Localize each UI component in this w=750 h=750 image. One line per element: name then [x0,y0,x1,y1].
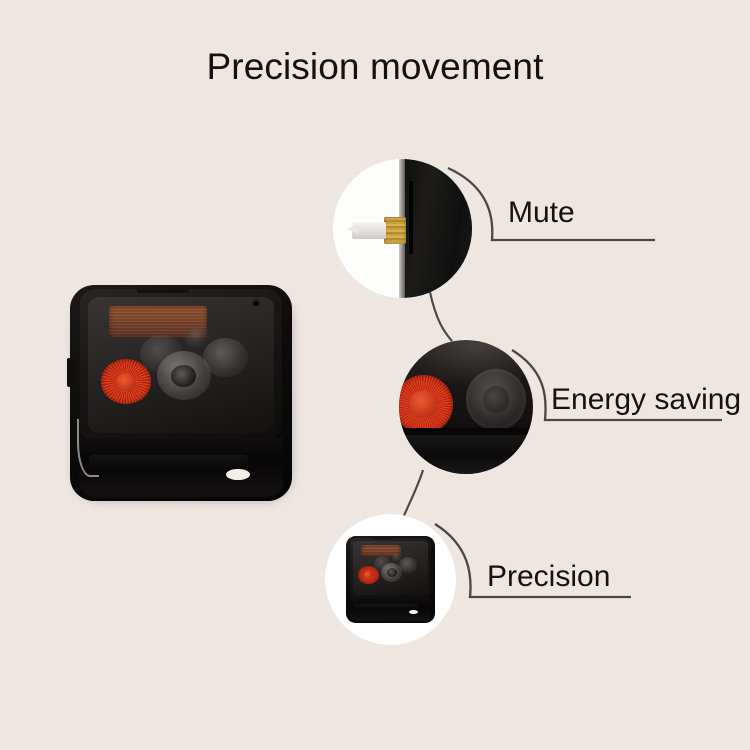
shaft-scene [333,159,472,298]
case-dark-body [405,159,472,298]
connector-1-2 [430,292,452,341]
mini-clear-window [353,541,428,595]
mini-gear-center [381,563,403,583]
product-image-mini [346,536,435,622]
callout-circle-energy-saving [399,340,533,474]
mini-red-ribbed-wheel [358,566,378,584]
callout-label-energy-saving: Energy saving [551,383,741,417]
gear-center [157,351,211,400]
mini-top-case [350,538,431,599]
product-clear-window [88,297,274,433]
case-slot [409,181,413,253]
page-title: Precision movement [0,46,750,88]
battery-compartment [79,438,283,496]
mini-gear-right [399,557,417,573]
infographic-canvas: Precision movement [0,0,750,750]
battery-groove [89,455,248,472]
brass-threaded-collar [384,217,406,245]
gear-small [185,327,209,349]
macro-lower-band [399,435,533,474]
product-top-case [80,289,282,440]
callout-label-mute: Mute [508,196,575,230]
case-side-notch [67,358,76,386]
white-dot-marker [226,469,251,481]
mini-battery-compartment [350,598,432,621]
mini-case-tab-icon [373,538,394,540]
macro-gear [466,369,526,429]
callout-circle-mute [333,159,472,298]
shaft-cone-tip-icon [346,224,359,234]
product-image-main [70,285,292,501]
mini-white-dot-marker [409,610,419,615]
case-pin-icon [252,300,260,307]
macro-ridge [399,428,533,435]
red-ribbed-wheel [101,359,151,404]
callout-label-precision: Precision [487,560,610,594]
macro-red-wheel [399,375,453,434]
callout-circle-precision [325,514,456,645]
case-tab-icon [137,289,190,293]
macro-scene [399,340,533,474]
mini-battery-groove [354,604,418,611]
